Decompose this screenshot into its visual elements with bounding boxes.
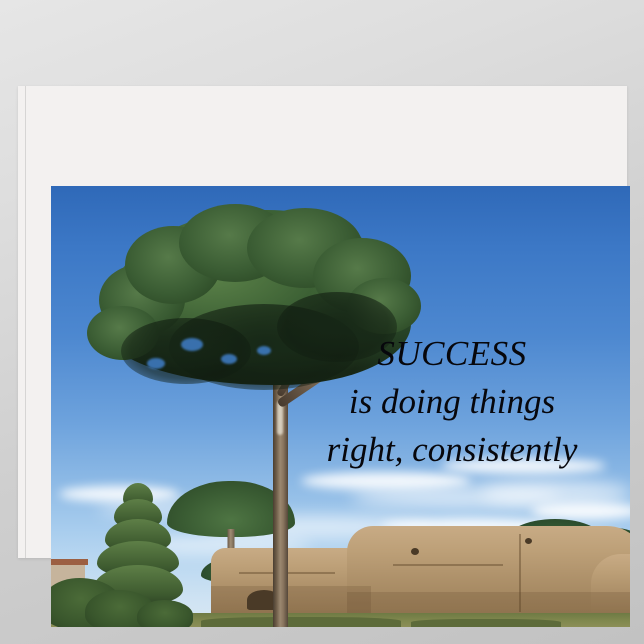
canopy-shadow <box>121 318 251 384</box>
page-backdrop: SUCCESS is doing things right, consisten… <box>0 0 644 644</box>
poster-sheet: SUCCESS is doing things right, consisten… <box>18 86 627 558</box>
foliage-sky-gap <box>147 358 165 369</box>
foliage-sky-gap <box>181 338 203 351</box>
foliage-sky-gap <box>257 346 271 355</box>
canopy-shadow <box>277 292 397 362</box>
poster-photograph: SUCCESS is doing things right, consisten… <box>51 186 630 627</box>
foliage-sky-gap <box>221 354 237 364</box>
main-stone-pine <box>51 186 630 627</box>
